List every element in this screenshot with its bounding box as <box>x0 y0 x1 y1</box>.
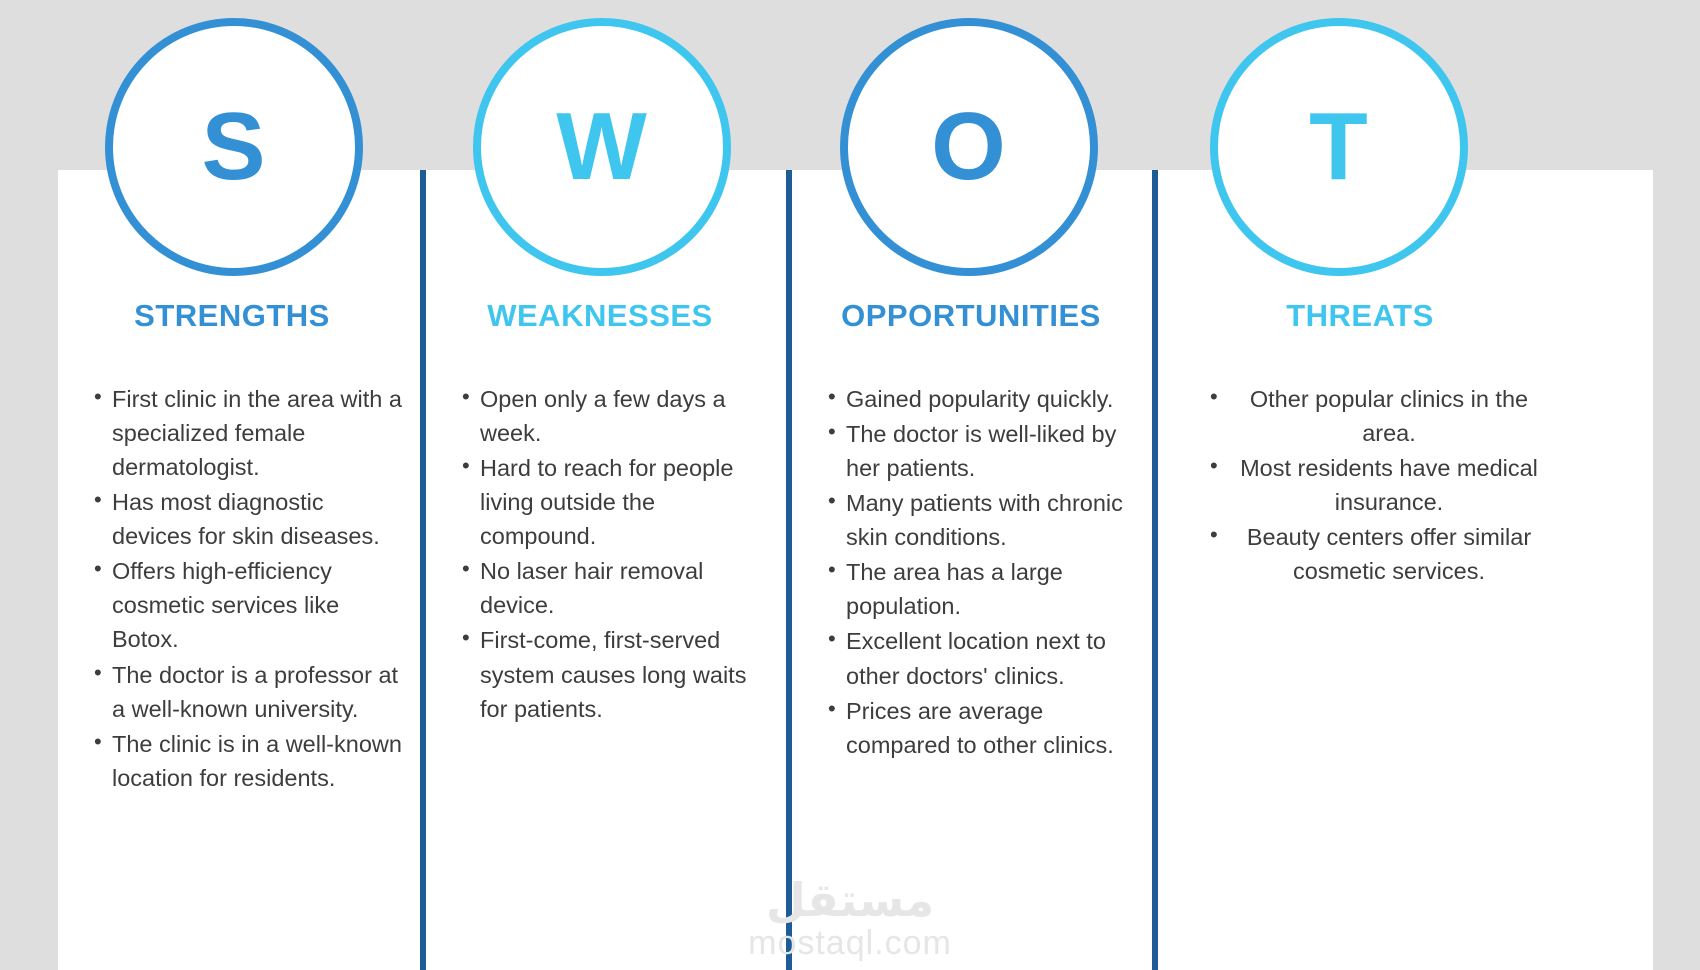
column-opportunities: OPPORTUNITIES Gained popularity quickly.… <box>796 298 1136 763</box>
weaknesses-list: Open only a few days a week.Hard to reac… <box>430 382 770 726</box>
list-item: Hard to reach for people living outside … <box>462 451 770 553</box>
threats-list: Other popular clinics in the area.Most r… <box>1180 382 1540 588</box>
circle-threats: T <box>1210 18 1468 276</box>
column-title-weaknesses: WEAKNESSES <box>430 298 770 334</box>
list-item: The doctor is a professor at a well-know… <box>94 658 402 726</box>
list-item: Beauty centers offer similar cosmetic se… <box>1198 520 1540 588</box>
circle-weaknesses: W <box>473 18 731 276</box>
list-item: No laser hair removal device. <box>462 554 770 622</box>
column-title-opportunities: OPPORTUNITIES <box>806 298 1136 334</box>
list-item: Has most diagnostic devices for skin dis… <box>94 485 402 553</box>
column-threats: THREATS Other popular clinics in the are… <box>1180 298 1540 589</box>
column-title-threats: THREATS <box>1180 298 1540 334</box>
circle-letter-o: O <box>931 99 1007 195</box>
letter-circles-row: S W O T <box>0 0 1700 300</box>
list-item: Most residents have medical insurance. <box>1198 451 1540 519</box>
column-weaknesses: WEAKNESSES Open only a few days a week.H… <box>430 298 770 727</box>
circle-letter-w: W <box>556 99 648 195</box>
list-item: Gained popularity quickly. <box>828 382 1136 416</box>
swot-diagram: S W O T STRENGTHS First clinic in the ar… <box>0 0 1700 970</box>
list-item: Other popular clinics in the area. <box>1198 382 1540 450</box>
list-item: Prices are average compared to other cli… <box>828 694 1136 762</box>
opportunities-list: Gained popularity quickly.The doctor is … <box>796 382 1136 762</box>
strengths-list: First clinic in the area with a speciali… <box>62 382 402 795</box>
circle-strengths: S <box>105 18 363 276</box>
list-item: The doctor is well-liked by her patients… <box>828 417 1136 485</box>
list-item: Offers high-efficiency cosmetic services… <box>94 554 402 656</box>
list-item: Open only a few days a week. <box>462 382 770 450</box>
list-item: First clinic in the area with a speciali… <box>94 382 402 484</box>
list-item: First-come, first-served system causes l… <box>462 623 770 725</box>
list-item: The area has a large population. <box>828 555 1136 623</box>
circle-letter-t: T <box>1309 99 1369 195</box>
column-title-strengths: STRENGTHS <box>62 298 402 334</box>
circle-opportunities: O <box>840 18 1098 276</box>
list-item: The clinic is in a well-known location f… <box>94 727 402 795</box>
circle-letter-s: S <box>201 99 266 195</box>
list-item: Many patients with chronic skin conditio… <box>828 486 1136 554</box>
column-strengths: STRENGTHS First clinic in the area with … <box>62 298 402 796</box>
list-item: Excellent location next to other doctors… <box>828 624 1136 692</box>
